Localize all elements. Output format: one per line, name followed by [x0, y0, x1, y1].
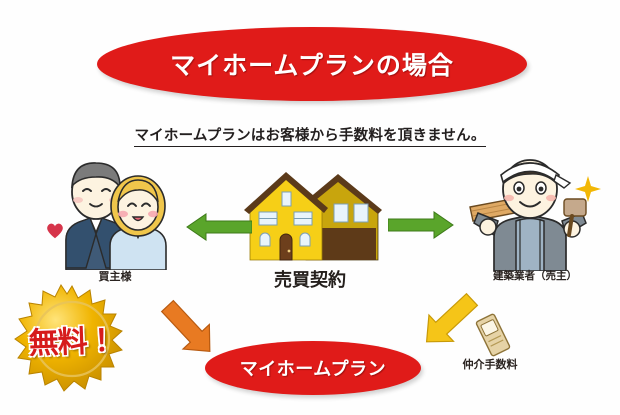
- page-title: マイホームプランの場合: [170, 46, 454, 82]
- sparkle-icon: [575, 176, 601, 202]
- house-illustration: [242, 168, 382, 264]
- money-envelope-icon: [470, 312, 516, 358]
- carpenter-illustration: [468, 155, 592, 271]
- couple-illustration: [52, 158, 172, 270]
- diagram-canvas: マイホームプランの場合 マイホームプランはお客様から手数料を頂きません。: [0, 0, 620, 415]
- buyer-label: 買主様: [60, 268, 170, 284]
- plan-banner: マイホームプラン: [205, 341, 421, 395]
- contract-label: 売買契約: [230, 266, 390, 292]
- title-banner: マイホームプランの場合: [97, 27, 527, 101]
- arrow-contract-to-buyer-icon: [186, 212, 252, 242]
- builder-label: 建築業者（売主）: [470, 268, 600, 283]
- subtitle-text: マイホームプランはお客様から手数料を頂きません。: [134, 128, 485, 147]
- heart-icon: [44, 219, 66, 241]
- plan-label: マイホームプラン: [240, 355, 386, 381]
- subtitle: マイホームプランはお客様から手数料を頂きません。: [0, 124, 620, 145]
- fee-label: 仲介手数料: [435, 356, 545, 372]
- arrow-contract-to-builder-icon: [388, 210, 454, 240]
- free-badge-icon: [12, 284, 132, 394]
- arrow-buyer-to-plan-icon: [152, 292, 224, 364]
